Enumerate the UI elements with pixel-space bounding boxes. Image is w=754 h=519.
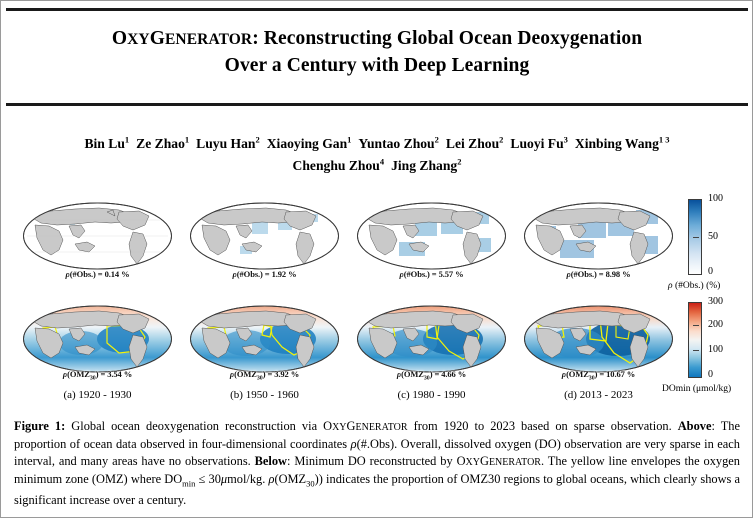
- title-brand-o: O: [112, 28, 127, 49]
- author-name: Bin Lu: [84, 136, 124, 151]
- colorbar-domin: 300 200 100 0 DOmin (μmol/kg): [688, 302, 702, 378]
- map-label-domin-c: ρ(OMZ30) = 4.66 %: [349, 369, 514, 382]
- author-affiliation-marker: 3: [564, 134, 568, 144]
- figure-caption: Figure 1: Global ocean deoxygenation rec…: [14, 418, 740, 509]
- title-line-1: OXYGENERATOR: Reconstructing Global Ocea…: [0, 26, 754, 53]
- title-line-1-rest: : Reconstructing Global Ocean Deoxygenat…: [252, 28, 642, 49]
- map-label-obs-c: ρ(#Obs.) = 5.57 %: [349, 269, 514, 279]
- header-rule-bottom: [6, 103, 748, 106]
- map-panel-obs-d: ρ(#Obs.) = 8.98 %: [516, 192, 681, 284]
- author-affiliation-marker: 2: [255, 134, 259, 144]
- subcaption-b: (b) 1950 - 1960: [182, 388, 347, 402]
- caption-above-label: Above: [678, 419, 712, 433]
- colorbar-domin-tick-200: 200: [708, 320, 723, 330]
- subcaption-a: (a) 1920 - 1930: [15, 388, 180, 402]
- title-brand-g: G: [150, 28, 165, 49]
- caption-below-label: Below: [255, 454, 287, 468]
- colorbar-domin-tick-300: 300: [708, 297, 723, 307]
- author-affiliation-marker: 1: [185, 134, 189, 144]
- author-affiliation-marker: 1: [347, 134, 351, 144]
- map-panel-domin-d: ρ(OMZ30) = 10.67 %: [516, 295, 681, 387]
- title-brand-xy: XY: [127, 31, 150, 48]
- author-name: Luyu Han: [196, 136, 255, 151]
- author-3: Luyu Han2: [196, 136, 260, 151]
- author-name: Xiaoying Gan: [267, 136, 347, 151]
- author-8: Xinbing Wang1 3: [575, 136, 670, 151]
- author-2: Ze Zhao1: [136, 136, 189, 151]
- caption-brand-2: OXYGENERATOR: [457, 454, 541, 468]
- author-name: Ze Zhao: [136, 136, 185, 151]
- colorbar-domin-tick-100: [693, 350, 699, 351]
- caption-brand-1: OXYGENERATOR: [323, 419, 407, 433]
- map-label-domin-a: ρ(OMZ30) = 3.54 %: [15, 369, 180, 382]
- author-1: Bin Lu1: [84, 136, 129, 151]
- author-name: Xinbing Wang: [575, 136, 659, 151]
- subcaption-d: (d) 2013 - 2023: [516, 388, 681, 402]
- author-7: Luoyi Fu3: [510, 136, 568, 151]
- author-10: Jing Zhang2: [391, 158, 461, 173]
- title-brand-enerator: ENERATOR: [165, 31, 252, 48]
- author-affiliation-marker: 1: [125, 134, 129, 144]
- author-name: Jing Zhang: [391, 158, 457, 173]
- colorbar-domin-tick-200: [693, 325, 699, 326]
- colorbar-observation-title: ρ (#Obs.) (%): [668, 281, 720, 291]
- map-panel-domin-a: ρ(OMZ30) = 3.54 %: [15, 295, 180, 387]
- map-panel-obs-b: ρ(#Obs.) = 1.92 %: [182, 192, 347, 284]
- map-label-domin-b: ρ(OMZ30) = 3.92 %: [182, 369, 347, 382]
- author-name: Lei Zhou: [446, 136, 499, 151]
- map-label-obs-a: ρ(#Obs.) = 0.14 %: [15, 269, 180, 279]
- colorbar-observation-tick-mid: [693, 237, 699, 238]
- colorbar-domin-tick-100: 100: [708, 345, 723, 355]
- author-6: Lei Zhou2: [446, 136, 504, 151]
- author-line-1: Bin Lu1Ze Zhao1Luyu Han2Xiaoying Gan1Yun…: [0, 130, 754, 153]
- map-panel-obs-a: ρ(#Obs.) = 0.14 %: [15, 192, 180, 284]
- map-label-obs-b: ρ(#Obs.) = 1.92 %: [182, 269, 347, 279]
- author-9: Chenghu Zhou4: [293, 158, 385, 173]
- map-panel-domin-c: ρ(OMZ30) = 4.66 %: [349, 295, 514, 387]
- colorbar-observation-gradient: [688, 199, 702, 275]
- author-name: Chenghu Zhou: [293, 158, 380, 173]
- map-label-obs-d: ρ(#Obs.) = 8.98 %: [516, 269, 681, 279]
- colorbar-observation-tick-50: 50: [708, 232, 718, 242]
- colorbar-domin-gradient: [688, 302, 702, 378]
- header-rule-top: [6, 8, 748, 11]
- author-list: Bin Lu1Ze Zhao1Luyu Han2Xiaoying Gan1Yun…: [0, 130, 754, 175]
- colorbar-observation-tick-100: 100: [708, 194, 723, 204]
- subcaption-c: (c) 1980 - 1990: [349, 388, 514, 402]
- map-panel-domin-b: ρ(OMZ30) = 3.92 %: [182, 295, 347, 387]
- page-title: OXYGENERATOR: Reconstructing Global Ocea…: [0, 26, 754, 79]
- caption-label: Figure 1:: [14, 419, 71, 433]
- colorbar-observation: 100 50 0 ρ (#Obs.) (%): [688, 199, 702, 275]
- author-affiliation-marker: 4: [380, 157, 384, 167]
- author-affiliation-marker: 2: [499, 134, 503, 144]
- colorbar-observation-tick-0: 0: [708, 267, 713, 277]
- colorbar-domin-title: DOmin (μmol/kg): [662, 384, 731, 394]
- map-row-domin: ρ(OMZ30) = 3.54 %: [0, 295, 754, 395]
- author-line-2: Chenghu Zhou4Jing Zhang2: [0, 153, 754, 176]
- author-affiliation-marker: 2: [457, 157, 461, 167]
- author-name: Luoyi Fu: [510, 136, 563, 151]
- map-panel-obs-c: ρ(#Obs.) = 5.57 %: [349, 192, 514, 284]
- author-affiliation-marker: 2: [435, 134, 439, 144]
- colorbar-domin-tick-0: 0: [708, 370, 713, 380]
- author-affiliation-marker: 1 3: [659, 134, 670, 144]
- map-row-observation: ρ(#Obs.) = 0.14 %: [0, 192, 754, 292]
- author-4: Xiaoying Gan1: [267, 136, 352, 151]
- figure-1: ρ(#Obs.) = 0.14 %: [0, 192, 754, 404]
- author-5: Yuntao Zhou2: [358, 136, 438, 151]
- map-label-domin-d: ρ(OMZ30) = 10.67 %: [516, 369, 681, 382]
- author-name: Yuntao Zhou: [358, 136, 434, 151]
- title-line-2: Over a Century with Deep Learning: [0, 53, 754, 79]
